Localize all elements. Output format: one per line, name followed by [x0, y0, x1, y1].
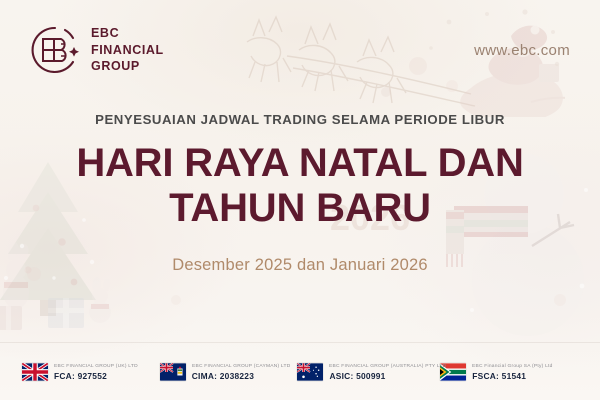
- brand-line-1: EBC: [91, 25, 164, 42]
- poster-header: EBC FINANCIAL GROUP www.ebc.com: [0, 0, 600, 100]
- brand-line-2: FINANCIAL: [91, 42, 164, 59]
- entity-license-number: CIMA: 2038223: [192, 371, 285, 382]
- regulatory-text: EBC FINANCIAL GROUP (CAYMAN) LTD CIMA: 2…: [192, 363, 285, 381]
- kicker-text: PENYESUAIAN JADWAL TRADING SELAMA PERIOD…: [0, 112, 600, 127]
- brand-wordmark: EBC FINANCIAL GROUP: [91, 25, 164, 75]
- flag-australia-icon: [297, 363, 323, 381]
- flag-united-kingdom-icon: [22, 363, 48, 381]
- headline-line-2: TAHUN BARU: [0, 186, 600, 231]
- brand-lockup: EBC FINANCIAL GROUP: [30, 25, 164, 75]
- entity-company-name: EBC FINANCIAL GROUP (CAYMAN) LTD: [192, 363, 290, 369]
- flag-cayman-islands-icon: [160, 363, 186, 381]
- entity-license-number: FCA: 927552: [54, 371, 133, 382]
- page-title: HARI RAYA NATAL DAN TAHUN BARU: [0, 141, 600, 231]
- entity-company-name: EBC FINANCIAL GROUP (UK) LTD: [54, 363, 138, 369]
- entity-company-name: EBC FINANCIAL GROUP (AUSTRALIA) PTY LTD: [329, 363, 446, 369]
- regulatory-entity-cayman: EBC FINANCIAL GROUP (CAYMAN) LTD CIMA: 2…: [160, 363, 298, 381]
- entity-license-number: ASIC: 500991: [329, 371, 440, 382]
- website-url[interactable]: www.ebc.com: [474, 42, 570, 59]
- regulatory-text: EBC FINANCIAL GROUP (AUSTRALIA) PTY LTD …: [329, 363, 440, 381]
- ebc-monogram-logo-icon: [30, 25, 80, 75]
- regulatory-entity-australia: EBC FINANCIAL GROUP (AUSTRALIA) PTY LTD …: [297, 363, 440, 381]
- regulatory-entity-south-africa: EBC Financial Group SA (Pty) Ltd FSCA: 5…: [440, 363, 578, 381]
- date-range-text: Desember 2025 dan Januari 2026: [0, 256, 600, 275]
- regulatory-footer: EBC FINANCIAL GROUP (UK) LTD FCA: 927552: [0, 352, 600, 392]
- poster-main-content: PENYESUAIAN JADWAL TRADING SELAMA PERIOD…: [0, 112, 600, 275]
- entity-company-name: EBC Financial Group SA (Pty) Ltd: [472, 363, 553, 369]
- headline-line-1: HARI RAYA NATAL DAN: [76, 141, 523, 185]
- entity-license-number: FSCA: 51541: [472, 371, 548, 382]
- regulatory-entity-uk: EBC FINANCIAL GROUP (UK) LTD FCA: 927552: [22, 363, 160, 381]
- brand-line-3: GROUP: [91, 58, 164, 75]
- footer-divider: [0, 342, 600, 343]
- regulatory-text: EBC FINANCIAL GROUP (UK) LTD FCA: 927552: [54, 363, 133, 381]
- regulatory-text: EBC Financial Group SA (Pty) Ltd FSCA: 5…: [472, 363, 548, 381]
- holiday-trading-schedule-poster: 2026 EB: [0, 0, 600, 400]
